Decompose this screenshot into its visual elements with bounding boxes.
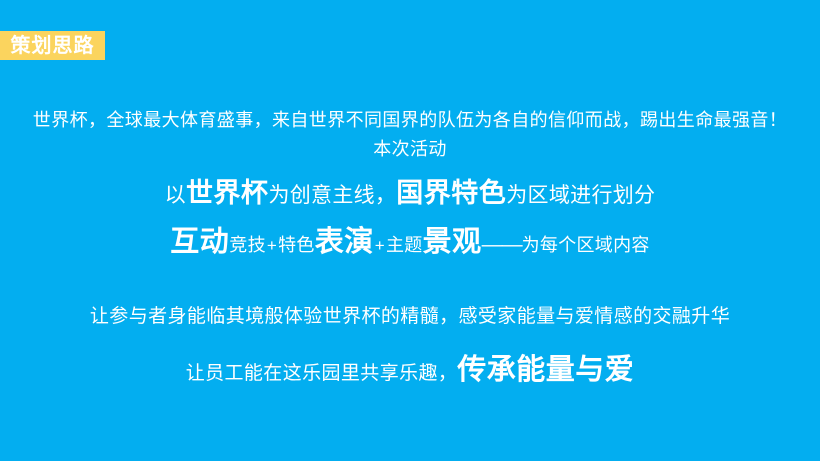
closing-line-2-part-1: 让员工能在这乐园里共享乐趣， (186, 363, 458, 384)
concept-line-1-part-1: 以 (165, 184, 186, 207)
closing-line-2: 让员工能在这乐园里共享乐趣，传承能量与爱 (0, 354, 820, 387)
concept-line-2-part-4: 为每个区域内容 (522, 235, 650, 255)
closing-line-1: 让参与者身能临其境般体验世界杯的精髓，感受家能量与爱情感的交融升华 (0, 306, 820, 328)
concept-line-2-keyword-2: 表演 (315, 226, 374, 258)
concept-line-2-keyword-1: 互动 (170, 226, 229, 258)
concept-line-2-dash: —— (482, 233, 522, 256)
concept-line-2-plus-2: + (374, 236, 386, 255)
concept-line-2: 互动竞技+特色表演+主题景观——为每个区域内容 (0, 226, 820, 259)
concept-line-2-part-3: 主题 (386, 235, 423, 255)
closing-line-2-keyword-1: 传承能量与爱 (457, 354, 634, 386)
slide-canvas: 策划思路 世界杯，全球最大体育盛事，来自世界不同国界的队伍为各自的信仰而战，踢出… (0, 0, 820, 461)
concept-line-2-plus-1: + (266, 236, 278, 255)
intro-line-1: 世界杯，全球最大体育盛事，来自世界不同国界的队伍为各自的信仰而战，踢出生命最强音… (0, 110, 820, 131)
concept-line-1-part-2: 为创意主线， (268, 184, 396, 207)
slide-body: 世界杯，全球最大体育盛事，来自世界不同国界的队伍为各自的信仰而战，踢出生命最强音… (0, 0, 820, 461)
concept-line-1-keyword-1: 世界杯 (186, 178, 269, 208)
concept-line-2-part-2: 特色 (278, 235, 315, 255)
concept-line-1-keyword-2: 国界特色 (396, 178, 506, 208)
concept-line-1: 以世界杯为创意主线，国界特色为区域进行划分 (0, 178, 820, 209)
intro-line-2: 本次活动 (0, 139, 820, 160)
concept-line-1-part-3: 为区域进行划分 (506, 184, 655, 207)
concept-line-2-keyword-3: 景观 (423, 226, 482, 258)
concept-line-2-part-1: 竞技 (229, 235, 266, 255)
